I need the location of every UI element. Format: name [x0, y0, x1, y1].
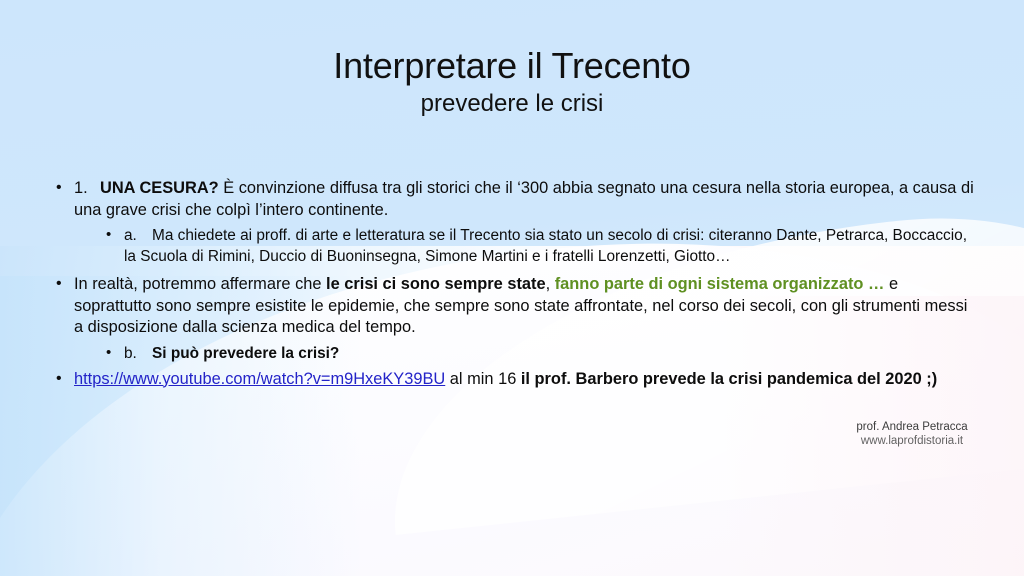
bullet-2-part1: In realtà, potremmo affermare che	[74, 275, 326, 293]
bullet-item-2: In realtà, potremmo affermare che le cri…	[52, 274, 978, 364]
bullet-item-1: 1.UNA CESURA? È convinzione diffusa tra …	[52, 178, 978, 267]
bullet-2-part2: ,	[546, 275, 555, 293]
bullet-2b-text: Si può prevedere la crisi?	[152, 345, 339, 362]
bullet-list-level1: 1.UNA CESURA? È convinzione diffusa tra …	[52, 178, 978, 390]
bullet-item-2b: b.Si può prevedere la crisi?	[104, 343, 978, 364]
bullet-2-green-highlight: fanno parte di ogni sistema organizzato …	[555, 275, 885, 293]
slide-canvas: Interpretare il Trecento prevedere le cr…	[0, 0, 1024, 576]
bullet-list-level2-b: b.Si può prevedere la crisi?	[74, 343, 978, 364]
bullet-2b-letter: b.	[124, 343, 152, 364]
bullet-item-1a: a.Ma chiedete ai proff. di arte e letter…	[104, 225, 978, 267]
bullet-item-3: https://www.youtube.com/watch?v=m9HxeKY3…	[52, 369, 978, 391]
slide-content: Interpretare il Trecento prevedere le cr…	[0, 0, 1024, 576]
bullet-3-bold: il prof. Barbero prevede la crisi pandem…	[521, 370, 937, 388]
bullet-1-lead: UNA CESURA?	[100, 179, 219, 197]
bullet-1a-text: Ma chiedete ai proff. di arte e letterat…	[124, 227, 967, 265]
youtube-link[interactable]: https://www.youtube.com/watch?v=m9HxeKY3…	[74, 370, 445, 388]
bullet-1a-letter: a.	[124, 225, 152, 246]
bullet-2-bold1: le crisi ci sono sempre state	[326, 275, 546, 293]
bullet-1-number: 1.	[74, 178, 100, 200]
slide-subtitle: prevedere le crisi	[0, 89, 1024, 119]
bullet-3-mid: al min 16	[445, 370, 521, 388]
title-block: Interpretare il Trecento prevedere le cr…	[0, 44, 1024, 119]
slide-body: 1.UNA CESURA? È convinzione diffusa tra …	[52, 178, 978, 391]
bullet-list-level2-a: a.Ma chiedete ai proff. di arte e letter…	[74, 225, 978, 267]
slide-title: Interpretare il Trecento	[0, 44, 1024, 88]
